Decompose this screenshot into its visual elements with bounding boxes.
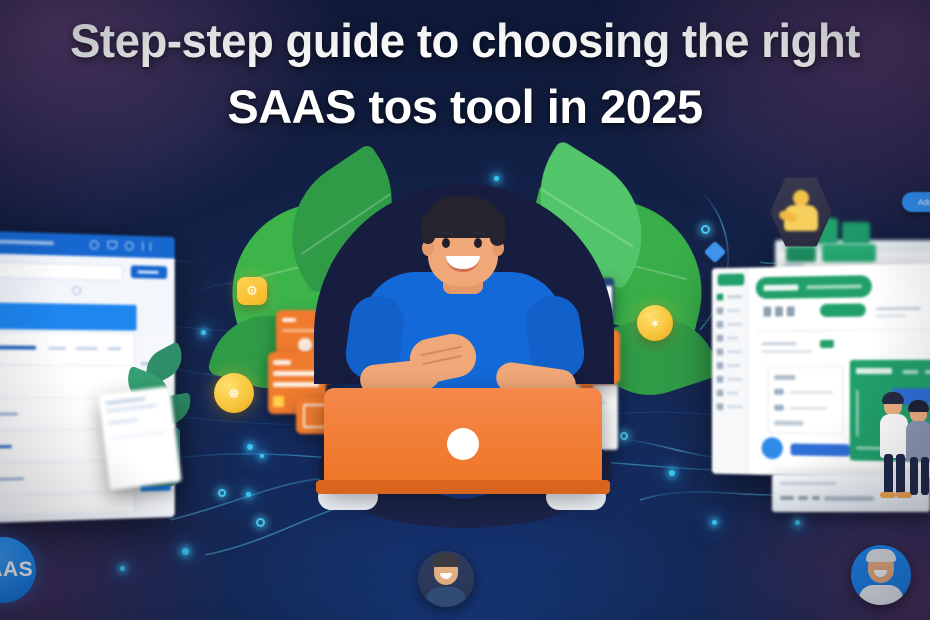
right-chart-label [762, 350, 813, 353]
divider [756, 329, 930, 331]
sidebar-item-label [727, 295, 742, 298]
sidebar-item[interactable] [717, 390, 724, 397]
eye-right [474, 238, 482, 248]
right-people-illustration [878, 392, 930, 500]
person-hair [882, 392, 904, 404]
poster-headline: Step-step guide to choosing the right SA… [0, 16, 930, 132]
sidebar-item[interactable] [717, 294, 724, 301]
avatar-right[interactable] [851, 545, 911, 605]
left-dashboard-cta-label [138, 270, 159, 273]
center-person-illustration [300, 190, 630, 550]
right-chart-value [820, 340, 834, 348]
person2-legs [921, 457, 929, 495]
add-pill-label: Add [918, 198, 930, 207]
person-body [880, 414, 908, 458]
right-meta-label [876, 307, 921, 311]
avatar-body [426, 587, 466, 607]
green-chip[interactable] [822, 244, 876, 262]
headline-line-1: Step-step guide to choosing the right [24, 16, 907, 66]
sidebar-item[interactable] [717, 321, 724, 328]
sidebar-item[interactable] [717, 362, 724, 369]
right-bottom-bar-label [812, 496, 820, 500]
rocket-icon: ✶ [650, 317, 661, 330]
stat-value [787, 306, 795, 316]
network-node [256, 518, 265, 527]
network-node [795, 520, 800, 525]
right-bottom-bar-label [824, 496, 874, 501]
badge-square [273, 396, 284, 407]
laptop-base [316, 480, 610, 494]
cart-icon[interactable] [107, 241, 117, 249]
chat-avatar[interactable] [762, 437, 783, 459]
green-chip[interactable] [842, 222, 870, 244]
network-icon: ☸ [228, 387, 240, 400]
headline-line-2: SAAS tos tool in 2025 [10, 82, 920, 132]
sidebar-item-label [727, 378, 742, 381]
sidebar-item-label [727, 392, 738, 395]
avatar-center[interactable] [418, 551, 474, 607]
sidebar-item-label [727, 309, 740, 312]
hero-banner-title [763, 284, 798, 291]
network-node [201, 330, 206, 335]
person2-hair [908, 400, 929, 412]
laptop[interactable] [324, 388, 602, 496]
eyebrow-right [471, 231, 485, 234]
right-chart-label [762, 342, 797, 345]
sidebar-item-label [727, 350, 742, 353]
avatar-body [859, 585, 903, 605]
left-secondary-card[interactable] [98, 386, 181, 490]
sidebar-item-label [727, 364, 740, 367]
laptop-logo [447, 428, 479, 460]
right-dashboard-cta-pill[interactable] [820, 303, 866, 317]
network-node [120, 566, 125, 571]
network-node [712, 520, 717, 525]
person2-body [906, 421, 930, 461]
stat-value [775, 307, 783, 317]
sidebar-item[interactable] [717, 348, 724, 355]
share-icon: ⚙ [246, 283, 258, 299]
sidebar-item[interactable] [717, 307, 724, 314]
avatar-hair [432, 553, 460, 567]
magnifier-icon [72, 286, 81, 295]
left-dashboard-searchbar[interactable] [0, 262, 123, 281]
sidebar-item[interactable] [717, 403, 724, 410]
right-bottom-bar-label [780, 496, 794, 500]
poster-canvas: Step-step guide to choosing the right SA… [0, 0, 930, 620]
right-dashboard-primary-button[interactable] [791, 444, 850, 457]
gear-icon[interactable] [125, 241, 134, 250]
stat-value [763, 307, 771, 317]
add-pill-button[interactable]: Add [902, 192, 930, 212]
menu-icon[interactable] [142, 242, 151, 251]
network-node [182, 548, 189, 555]
person-legs [896, 454, 905, 494]
table-row[interactable] [0, 337, 133, 366]
network-node [246, 492, 251, 497]
eyebrow-left [439, 231, 453, 234]
hex-badge-figure [779, 190, 823, 234]
right-meta-label [876, 314, 906, 317]
sidebar-item-label [727, 337, 738, 340]
avatar-hair [866, 549, 896, 562]
sidebar-item-label [727, 323, 742, 326]
person2-legs [910, 457, 918, 495]
right-form-card[interactable] [767, 366, 843, 434]
person-shoe [880, 492, 896, 498]
network-node [218, 489, 226, 497]
eye-left [442, 238, 450, 248]
network-node [669, 470, 675, 476]
share-badge[interactable]: ⚙ [237, 277, 267, 305]
network-coin-badge[interactable]: ☸ [214, 373, 254, 413]
right-dashboard-logo [718, 274, 745, 286]
hair-side [490, 212, 505, 246]
magnifier-icon[interactable] [90, 240, 99, 249]
rocket-coin-badge[interactable]: ✶ [637, 305, 673, 341]
sidebar-item[interactable] [717, 335, 724, 342]
right-bottom-bar-label [798, 496, 808, 500]
hair-side [421, 214, 435, 244]
person-legs [884, 454, 893, 494]
green-chip[interactable] [786, 246, 816, 262]
saas-logo-label: SAAS [0, 558, 33, 582]
sidebar-item[interactable] [717, 376, 724, 383]
sidebar-item-label [727, 405, 742, 408]
left-dashboard-section-header [0, 302, 137, 330]
